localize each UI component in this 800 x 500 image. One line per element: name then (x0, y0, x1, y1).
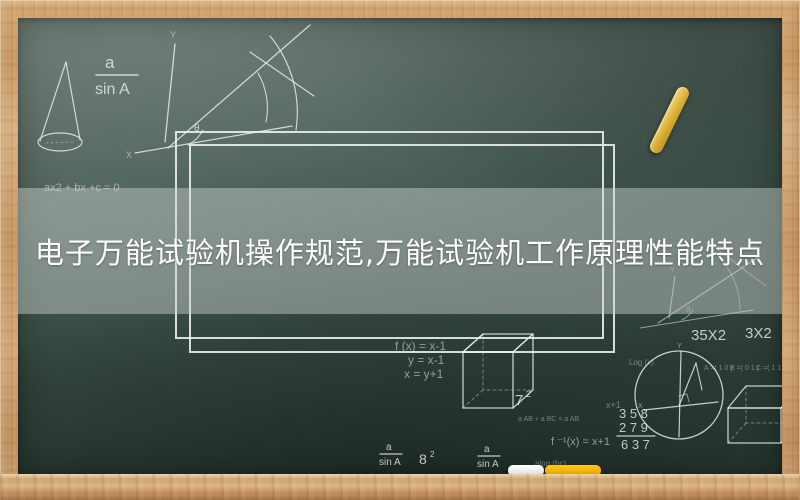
page-title: 电子万能试验机操作规范,万能试验机工作原理性能特点 (35, 230, 765, 272)
title-overlay-band: 电子万能试验机操作规范,万能试验机工作原理性能特点 (18, 188, 782, 314)
chalk-tray-ledge (0, 474, 800, 500)
ledge-wood-grain (0, 474, 800, 500)
screenshot-root: a sin A Y X θ ax2 + bx +c = 0 (0, 0, 800, 500)
